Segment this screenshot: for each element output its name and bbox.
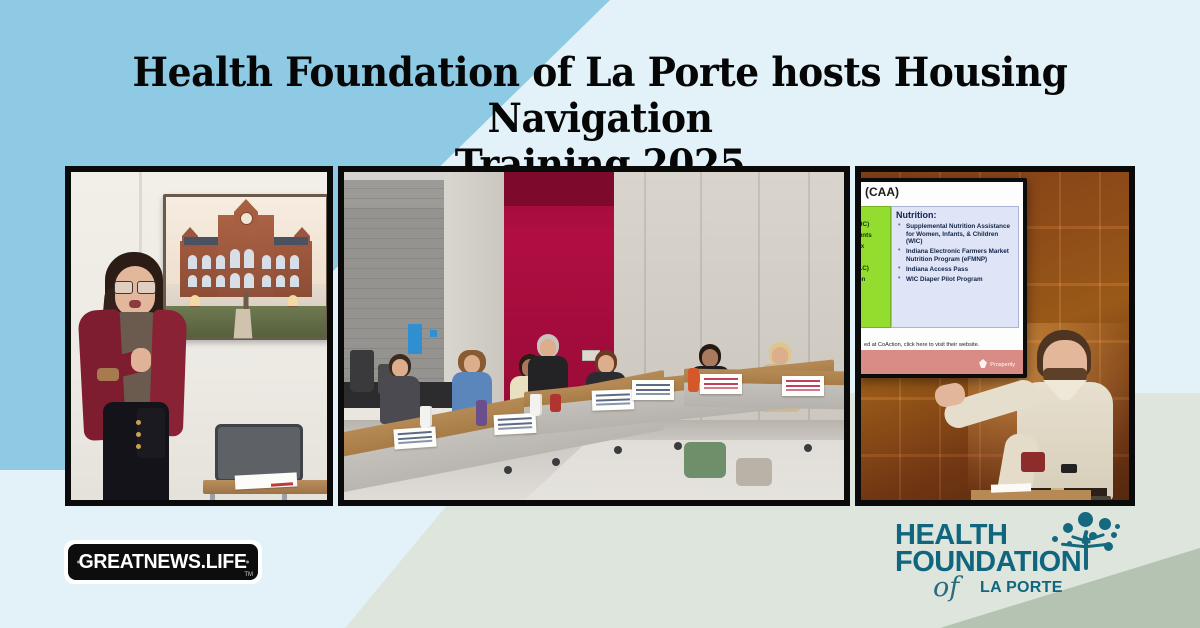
- slide-left-line: y: [861, 287, 890, 295]
- name-tent: [494, 413, 537, 435]
- slide-title: (CAA): [865, 185, 899, 199]
- photo-strip: (CAA) bility: ling (HC) Accounts me Tax …: [65, 166, 1135, 506]
- slide-right-panel: Nutrition: Supplemental Nutrition Assist…: [891, 206, 1019, 328]
- slide-left-line: ling (HC): [861, 221, 890, 229]
- photo-presenter-slide: (CAA) bility: ling (HC) Accounts me Tax …: [855, 166, 1135, 506]
- water-bottle: [688, 368, 699, 392]
- slide-left-line: es (CLC): [861, 265, 890, 273]
- health-foundation-logo[interactable]: HEALTH FOUNDATION of LA PORTE: [895, 522, 1120, 608]
- slide-content: (CAA) bility: ling (HC) Accounts me Tax …: [861, 182, 1023, 374]
- photo-presenter-courthouse: [65, 166, 333, 506]
- slide-left-line: vention: [861, 276, 890, 284]
- name-tent: [700, 374, 742, 394]
- presentation-screen: (CAA) bility: ling (HC) Accounts me Tax …: [861, 178, 1027, 378]
- page-title-line-1: Health Foundation of La Porte hosts Hous…: [92, 50, 1107, 142]
- coffee-mug: [1021, 452, 1045, 472]
- name-tent: [393, 427, 436, 450]
- trademark-symbol: TM: [244, 572, 253, 578]
- slide-bullet: WIC Diaper Pilot Program: [906, 276, 1015, 284]
- side-table: [971, 490, 1091, 500]
- slide-left-panel: bility: ling (HC) Accounts me Tax ) es (…: [861, 206, 891, 328]
- water-bottle: [550, 394, 561, 412]
- slide-brand: Prosperity: [990, 362, 1015, 368]
- slide-bullet: Supplemental Nutrition Assistance for Wo…: [906, 223, 1015, 246]
- name-tent: [592, 389, 635, 410]
- name-tent: [632, 380, 674, 400]
- greatnews-life-logo[interactable]: GREATNEWS.LIFE TM: [64, 540, 262, 584]
- hf-logo-of: of: [933, 572, 959, 603]
- name-tent: [782, 376, 824, 396]
- promo-graphic: Health Foundation of La Porte hosts Hous…: [0, 0, 1200, 628]
- drink-cup: [420, 406, 432, 428]
- slide-left-heading: bility:: [861, 210, 890, 218]
- wristwatch: [1061, 464, 1077, 473]
- slide-bullet: Indiana Electronic Farmers Market Nutrit…: [906, 248, 1015, 263]
- hf-logo-laporte: LA PORTE: [980, 579, 1063, 597]
- greatnews-logo-text: GREATNEWS.LIFE: [79, 551, 247, 574]
- coffee-urn: [350, 350, 374, 392]
- slide-footnote: ed at CoAction, click here to visit thei…: [864, 342, 1020, 348]
- eyeglasses: [114, 281, 156, 292]
- water-bottle: [476, 400, 487, 426]
- slide-right-heading: Nutrition:: [896, 210, 1018, 220]
- wall-sign: [408, 324, 422, 354]
- papers: [991, 483, 1031, 492]
- slide-left-line: Accounts: [861, 232, 890, 240]
- slide-bullet-list: Supplemental Nutrition Assistance for Wo…: [892, 223, 1018, 284]
- drink-cup: [530, 394, 542, 416]
- logo-dot-right: [246, 561, 249, 564]
- presenter-woman: [75, 244, 193, 500]
- tree-icon: [1047, 512, 1125, 570]
- slide-bullet: Indiana Access Pass: [906, 266, 1015, 274]
- slide-left-line: ): [861, 254, 890, 262]
- tote-bag: [684, 442, 726, 478]
- slide-left-line: me Tax: [861, 243, 890, 251]
- tote-bag: [736, 458, 772, 486]
- photo-conference-room: [338, 166, 850, 506]
